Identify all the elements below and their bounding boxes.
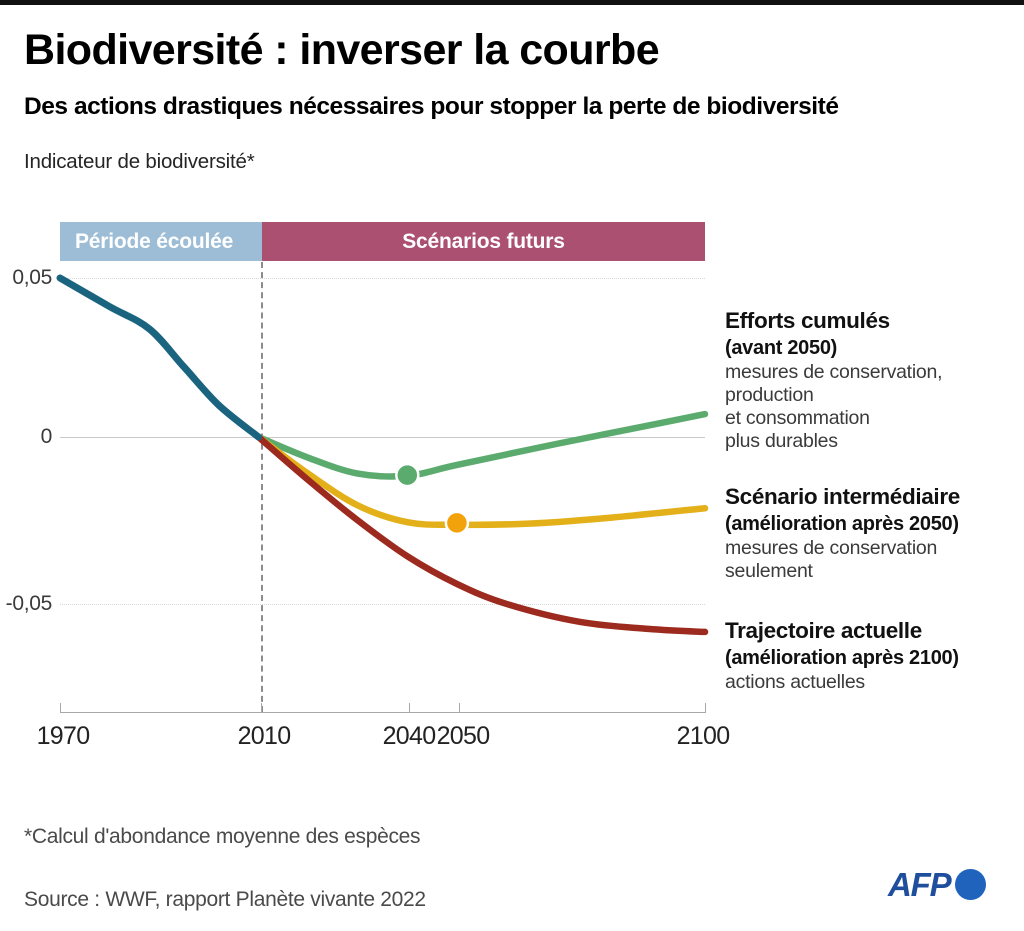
- curve-p-riode-coul-e: [60, 278, 258, 437]
- annotation-title: Scénario intermédiaire: [725, 484, 1024, 510]
- curve-sc-nario-interm-diaire: [258, 437, 705, 525]
- blue-circle-icon: [955, 869, 986, 900]
- annotation-title: Efforts cumulés: [725, 308, 1024, 334]
- marker-2040: [396, 464, 418, 486]
- curve-efforts-cumul-s: [258, 414, 705, 476]
- annotation-body: mesures de conservation,productionet con…: [725, 361, 1024, 453]
- afp-wordmark: AFP: [888, 868, 950, 901]
- footnote: *Calcul d'abondance moyenne des espèces: [24, 825, 420, 849]
- annotation-trajectoire-actuelle: Trajectoire actuelle (amélioration après…: [725, 618, 1024, 694]
- afp-logo: AFP: [888, 868, 986, 901]
- annotation-subtitle: (amélioration après 2050): [725, 512, 1024, 536]
- annotation-efforts-cumules: Efforts cumulés (avant 2050) mesures de …: [725, 308, 1024, 453]
- annotation-body: actions actuelles: [725, 671, 1024, 694]
- annotation-body: mesures de conservationseulement: [725, 537, 1024, 583]
- source-note: Source : WWF, rapport Planète vivante 20…: [24, 888, 426, 912]
- annotation-scenario-intermediaire: Scénario intermédiaire (amélioration apr…: [725, 484, 1024, 583]
- annotation-subtitle: (amélioration après 2100): [725, 646, 1024, 670]
- annotation-title: Trajectoire actuelle: [725, 618, 1024, 644]
- marker-2050: [446, 512, 468, 534]
- annotation-subtitle: (avant 2050): [725, 336, 1024, 360]
